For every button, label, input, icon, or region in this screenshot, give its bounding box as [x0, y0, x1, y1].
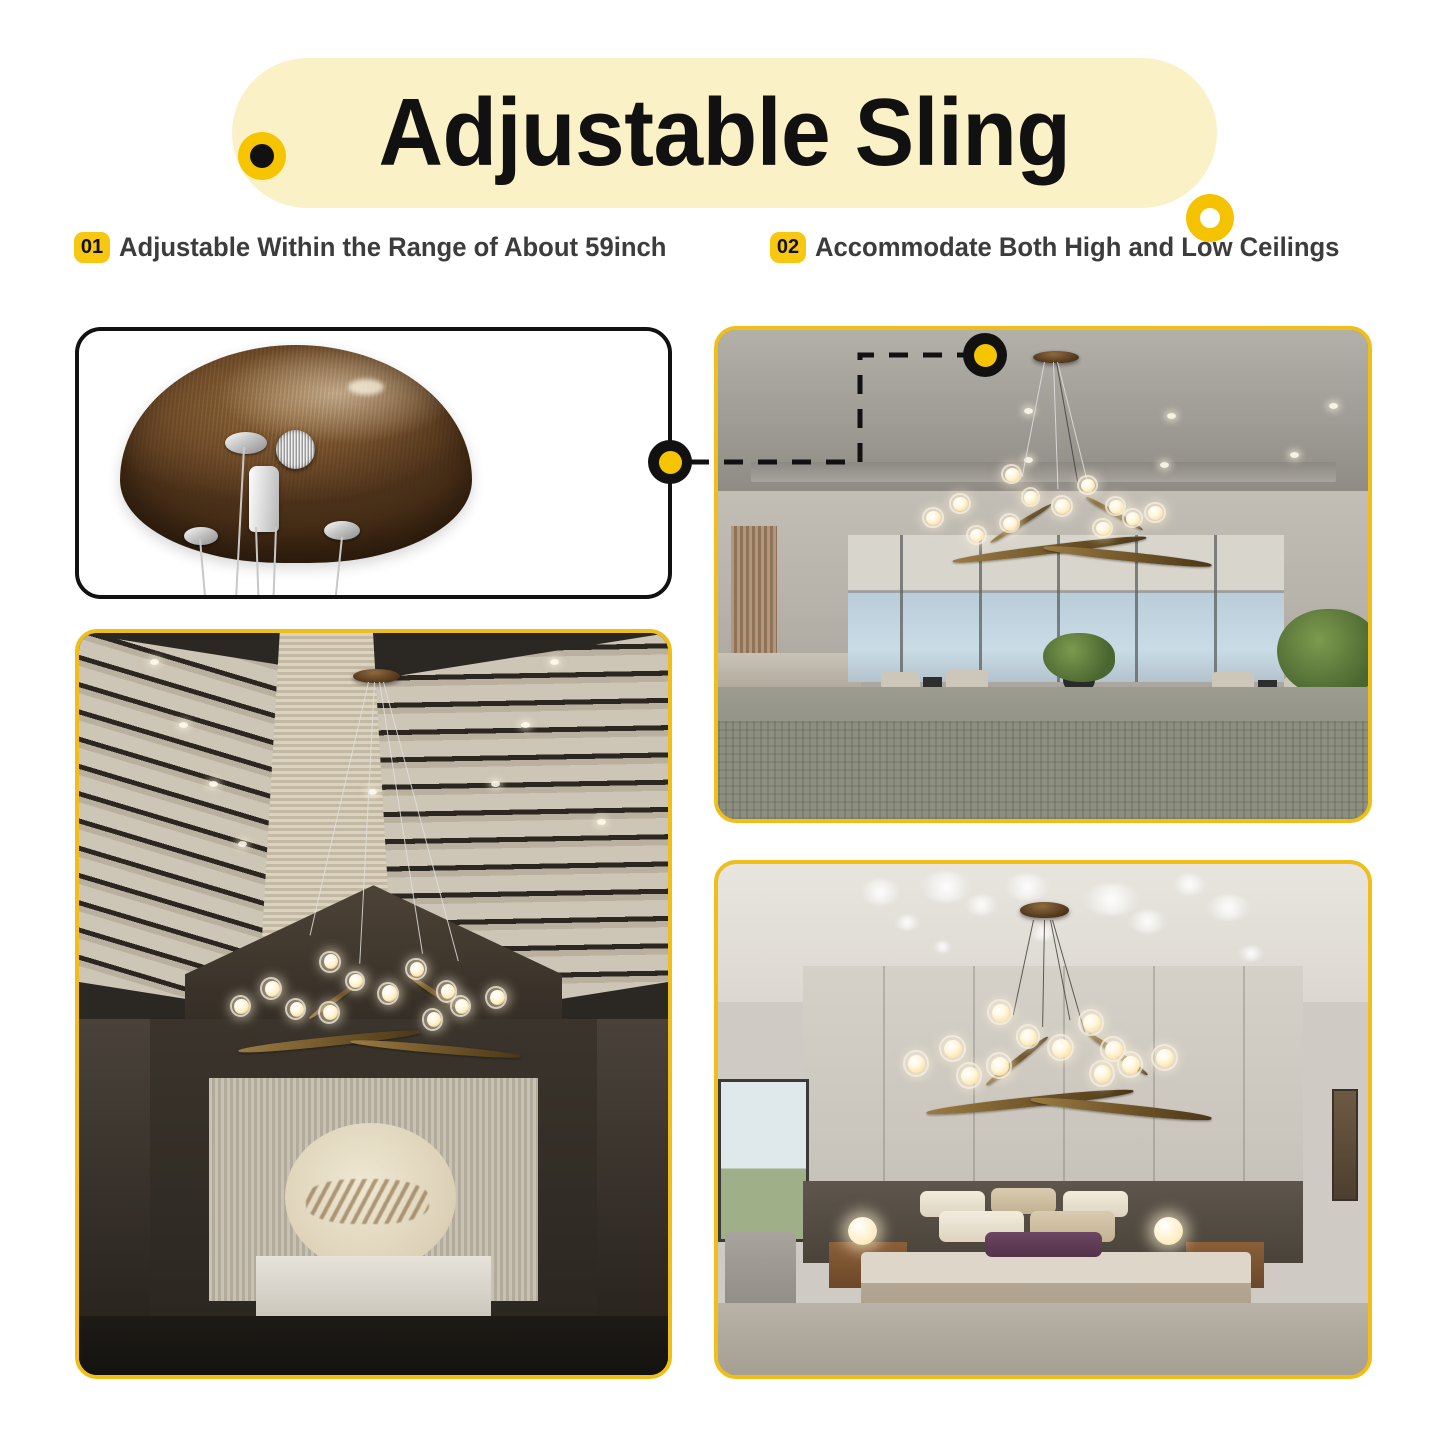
panel-lobby-high-ceiling — [714, 326, 1372, 823]
chandelier-bulb — [1096, 522, 1110, 536]
lobby-photo — [718, 330, 1368, 819]
chandelier-cable — [1053, 362, 1058, 489]
panel-bedroom-low-ceiling — [714, 860, 1372, 1379]
chandelier-bulb — [382, 985, 397, 1001]
chandelier-cable — [1022, 362, 1045, 477]
chandelier-cable — [1042, 920, 1045, 1027]
chandelier-bulb — [410, 962, 424, 977]
chandelier-bedroom — [718, 864, 1368, 1375]
chandelier-cable — [379, 682, 423, 953]
chandelier-bulb — [290, 1002, 304, 1017]
chandelier-ceiling-canopy — [1020, 902, 1069, 918]
canopy-photo — [79, 331, 668, 595]
caption-badge-01: 01 — [74, 232, 110, 263]
bedroom-photo — [718, 864, 1368, 1375]
title-banner: Adjustable Sling — [0, 58, 1445, 208]
chandelier-bulb — [1003, 517, 1018, 531]
chandelier-bulb — [441, 984, 455, 999]
canopy-highlight — [348, 379, 384, 395]
chandelier-bulb — [427, 1012, 441, 1027]
hall-photo — [79, 633, 668, 1375]
panel-canopy-closeup — [75, 327, 672, 599]
chandelier-bulb — [1055, 499, 1071, 514]
caption-text-01: Adjustable Within the Range of About 59i… — [119, 232, 666, 263]
knurled-nut-icon — [276, 430, 315, 469]
chandelier-branch-arm — [1030, 1095, 1212, 1124]
chandelier-cable — [309, 682, 368, 935]
chandelier-bulb — [455, 999, 469, 1014]
chandelier-bulb — [323, 1005, 338, 1021]
chandelier-bulb — [1083, 1014, 1101, 1032]
chandelier-bulb — [1024, 491, 1038, 504]
chandelier-bulb — [265, 981, 280, 997]
chandelier-hall — [79, 633, 668, 1375]
chandelier-cable — [1056, 362, 1078, 483]
wire-sleeve — [249, 466, 279, 532]
chandelier-cable — [359, 682, 375, 964]
decor-dot-left-icon — [238, 132, 286, 180]
chandelier-bulb — [926, 511, 941, 525]
callout-dot-source — [648, 440, 692, 484]
caption-badge-02: 02 — [770, 232, 806, 263]
chandelier-bulb — [991, 1057, 1009, 1075]
caption-01: 01 Adjustable Within the Range of About … — [74, 232, 695, 263]
chandelier-cable — [383, 682, 459, 962]
chandelier-bulb — [1052, 1039, 1071, 1058]
chandelier-bulb — [1122, 1056, 1140, 1074]
chandelier-bulb — [1005, 468, 1019, 482]
callout-dot-target — [963, 333, 1007, 377]
chandelier-bulb — [992, 1004, 1010, 1022]
chandelier-bulb — [234, 999, 248, 1014]
screw-top-icon — [225, 432, 267, 454]
chandelier-bulb — [1109, 500, 1123, 514]
chandelier-ceiling-canopy — [353, 669, 400, 684]
chandelier-bulb — [961, 1067, 979, 1085]
page-title: Adjustable Sling — [266, 58, 1182, 208]
caption-02: 02 Accommodate Both High and Low Ceiling… — [770, 232, 1367, 263]
chandelier-lobby — [718, 330, 1368, 819]
caption-text-02: Accommodate Both High and Low Ceilings — [815, 232, 1339, 263]
chandelier-branch-arm — [350, 1037, 521, 1060]
chandelier-bulb — [1126, 512, 1140, 526]
chandelier-branch-arm — [1043, 544, 1212, 570]
chandelier-cable — [1013, 920, 1035, 1015]
panel-vaulted-hall — [75, 629, 672, 1379]
chandelier-bulb — [1020, 1029, 1037, 1046]
